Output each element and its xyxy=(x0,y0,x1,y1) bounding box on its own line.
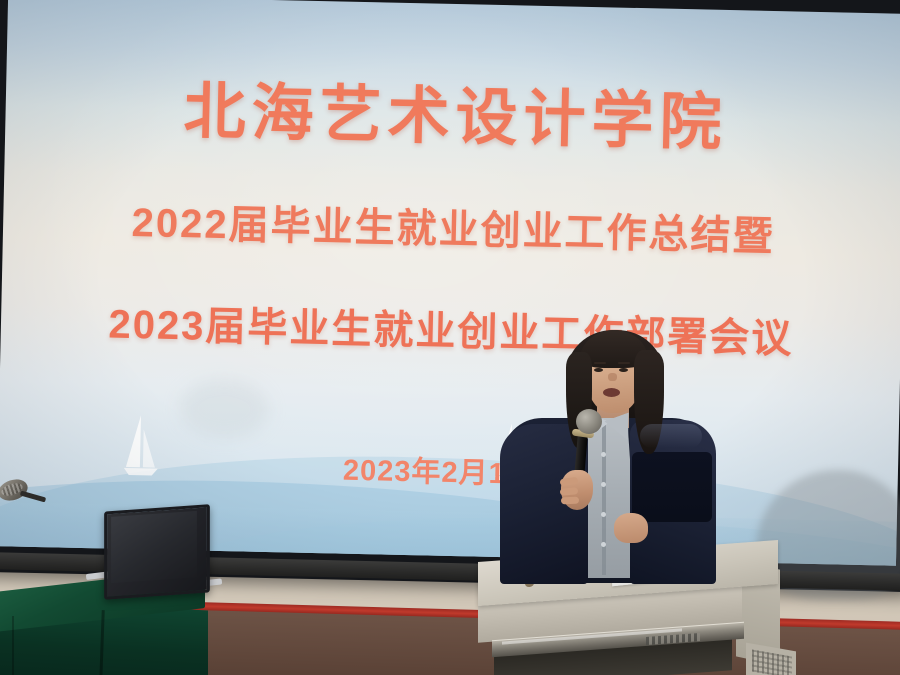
slide-line-1: 2022届毕业生就业创业工作总结暨 xyxy=(3,187,900,265)
speaker-hand-right xyxy=(614,513,648,543)
speaker-eye-right xyxy=(619,368,628,372)
table-fold-2 xyxy=(12,616,14,675)
shirt-button-4 xyxy=(601,542,606,547)
laptop-screen xyxy=(111,511,197,583)
shirt-button-3 xyxy=(601,512,606,517)
conference-photo-scene: 北海艺术设计学院 2022届毕业生就业创业工作总结暨 2023届毕业生就业创业工… xyxy=(0,0,900,675)
projection-screen: 北海艺术设计学院 2022届毕业生就业创业工作总结暨 2023届毕业生就业创业工… xyxy=(0,0,900,592)
speaker-nose xyxy=(608,373,617,381)
handheld-mic-head xyxy=(576,409,602,434)
shirt-button-1 xyxy=(601,452,606,457)
speaker-eye-left xyxy=(594,368,603,372)
speaker-brow-left xyxy=(594,362,606,364)
speaker-jacket-panel xyxy=(632,452,712,522)
speaker-mouth xyxy=(603,388,620,397)
shirt-button-2 xyxy=(601,482,606,487)
laptop[interactable] xyxy=(104,508,208,594)
projection-smudge xyxy=(179,378,270,440)
speaker-shoulder-highlight xyxy=(640,424,702,448)
speaker-shirt-placket xyxy=(602,425,606,575)
slide-institution-title: 北海艺术设计学院 xyxy=(5,56,900,166)
slide-line-2: 2023届毕业生就业创业工作部署会议 xyxy=(0,289,900,367)
speaker-finger-3 xyxy=(561,497,579,505)
screen-surface: 北海艺术设计学院 2022届毕业生就业创业工作总结暨 2023届毕业生就业创业工… xyxy=(0,0,900,566)
speaker-brow-right xyxy=(618,362,630,364)
